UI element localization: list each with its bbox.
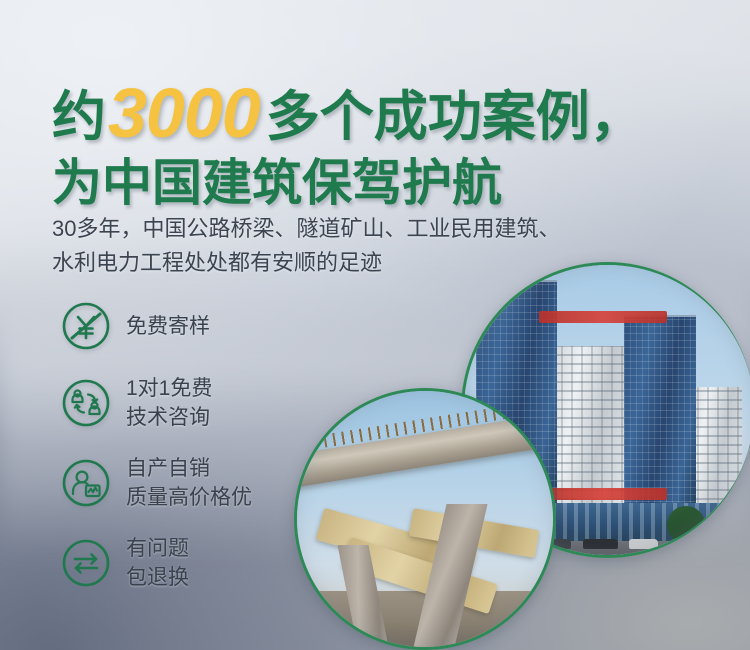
feature-item-free-sample: 免费寄样	[60, 300, 360, 352]
headline-line-2: 为中国建筑保驾护航	[52, 158, 712, 208]
tree	[667, 506, 705, 544]
person-chart-icon	[60, 457, 112, 509]
feature-label: 有问题 包退换	[126, 534, 189, 592]
glass-tower-right	[624, 315, 697, 508]
subtitle-line-1: 30多年，中国公路桥梁、隧道矿山、工业民用建筑、	[52, 212, 732, 246]
feature-line-2: 包退换	[126, 563, 189, 592]
headline-number: 3000	[108, 74, 260, 152]
parked-car	[583, 539, 618, 549]
headline-suffix: 多个成功案例，	[266, 87, 644, 147]
feature-line-2: 技术咨询	[126, 403, 212, 432]
feature-line-1: 有问题	[126, 537, 189, 560]
feature-label: 免费寄样	[126, 312, 210, 341]
bridge-photo	[294, 388, 556, 650]
feature-line-2: 质量高价格优	[126, 483, 252, 512]
feature-label: 自产自销 质量高价格优	[126, 454, 252, 512]
feature-line-1: 免费寄样	[126, 315, 210, 338]
headline-prefix: 约	[52, 87, 106, 147]
swap-arrows-icon	[60, 537, 112, 589]
headline-line-1: 约3000多个成功案例，	[52, 78, 712, 148]
no-fee-yuan-icon	[60, 300, 112, 352]
promo-banner: 约3000多个成功案例， 为中国建筑保驾护航 30多年，中国公路桥梁、隧道矿山、…	[0, 0, 750, 650]
feature-line-1: 自产自销	[126, 457, 210, 480]
entrance-sign	[539, 488, 667, 500]
feature-label: 1对1免费 技术咨询	[126, 374, 212, 432]
bridge-photo-content	[297, 391, 553, 647]
headline-block: 约3000多个成功案例， 为中国建筑保驾护航	[52, 78, 712, 208]
two-people-exchange-icon	[60, 377, 112, 429]
parked-car	[629, 539, 658, 549]
feature-line-1: 1对1免费	[126, 377, 212, 400]
building-core-slab	[551, 346, 629, 508]
rooftop-sign	[539, 311, 667, 323]
